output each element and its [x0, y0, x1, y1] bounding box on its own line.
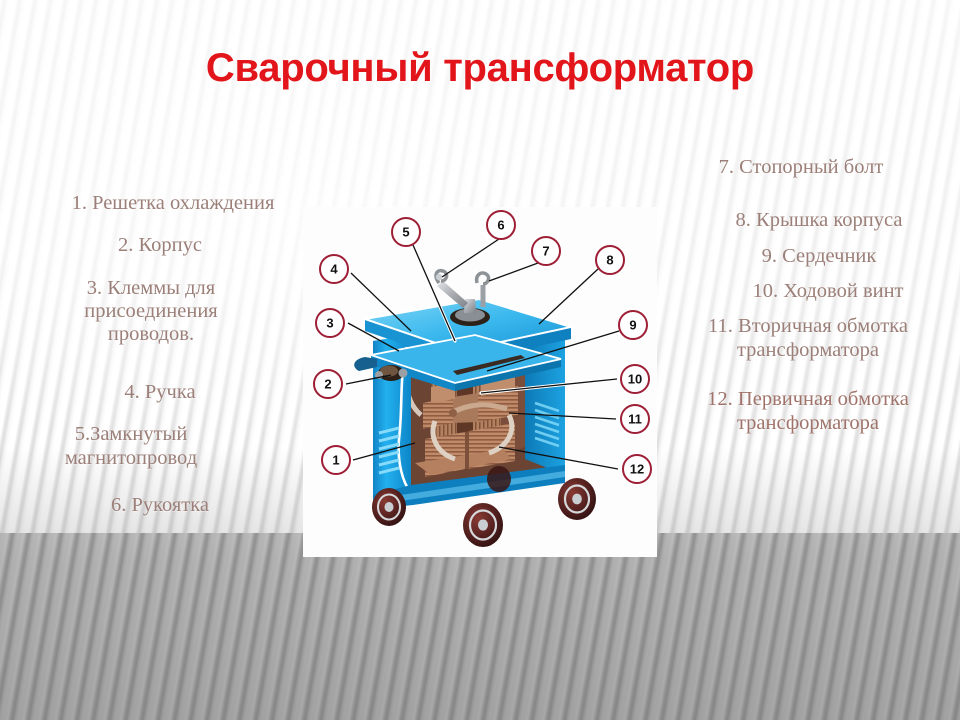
wheel-rear-left: [487, 466, 511, 492]
callout-5[interactable]: 5: [392, 218, 420, 246]
legend-item-5-line1: 5.Замкнутый: [6, 423, 296, 446]
wheel-rear-right: [558, 478, 596, 520]
winding-primary-gap: [465, 431, 469, 469]
callout-10[interactable]: 10: [621, 365, 649, 393]
callout-4[interactable]: 4: [320, 255, 348, 283]
svg-text:12: 12: [630, 462, 644, 477]
legend-item-10: 10. Ходовой винт: [660, 280, 956, 303]
callout-1[interactable]: 1: [322, 446, 350, 474]
legend-item-9: 9. Сердечник: [660, 245, 956, 268]
legend-item-1: 1. Решетка охлаждения: [6, 192, 296, 215]
legend-item-7: 7. Стопорный болт: [660, 156, 956, 179]
legend-item-3-line1: 3. Клеммы для: [6, 277, 296, 300]
legend-item-5-line2: магнитопровод: [6, 447, 296, 470]
legend-item-12-line2: трансформатора: [660, 412, 956, 435]
legend-item-11-line1: 11. Вторичная обмотка: [660, 315, 956, 338]
svg-text:2: 2: [324, 377, 331, 392]
legend-item-6: 6. Рукоятка: [6, 494, 296, 517]
handle-knob: [436, 274, 442, 280]
svg-text:10: 10: [628, 372, 642, 387]
diagram-panel: 1 2 3 4 5 6 7 8 9 10 11 12: [303, 207, 657, 557]
legend-item-3-line2: присоединения: [6, 300, 296, 323]
svg-text:9: 9: [629, 318, 636, 333]
svg-text:7: 7: [542, 244, 549, 259]
wheel-front-right: [463, 503, 503, 547]
callout-8[interactable]: 8: [596, 246, 624, 274]
legend-item-2: 2. Корпус: [6, 234, 296, 257]
legend-item-11-line2: трансформатора: [660, 339, 956, 362]
svg-text:5: 5: [402, 225, 409, 240]
callout-2[interactable]: 2: [314, 370, 342, 398]
callout-6[interactable]: 6: [487, 211, 515, 239]
callout-9[interactable]: 9: [619, 311, 647, 339]
lead-screw-knob: [449, 409, 457, 417]
svg-text:6: 6: [497, 218, 504, 233]
wheel-front-left: [372, 488, 406, 526]
slide-title: Сварочный трансформатор: [0, 46, 960, 91]
right-legend-column: 7. Стопорный болт 8. Крышка корпуса 9. С…: [660, 156, 956, 447]
callout-3[interactable]: 3: [316, 309, 344, 337]
svg-text:4: 4: [330, 262, 338, 277]
legend-item-3-line3: проводов.: [6, 323, 296, 346]
svg-text:8: 8: [606, 253, 613, 268]
legend-item-4: 4. Ручка: [6, 381, 296, 404]
callout-12[interactable]: 12: [623, 455, 651, 483]
legend-item-12-line1: 12. Первичная обмотка: [660, 388, 956, 411]
left-legend-column: 1. Решетка охлаждения 2. Корпус 3. Клемм…: [6, 192, 296, 536]
svg-text:3: 3: [326, 316, 333, 331]
callout-7[interactable]: 7: [532, 237, 560, 265]
svg-text:1: 1: [332, 453, 339, 468]
callout-11[interactable]: 11: [621, 405, 649, 433]
legend-item-8: 8. Крышка корпуса: [660, 209, 956, 232]
svg-text:11: 11: [628, 412, 642, 427]
